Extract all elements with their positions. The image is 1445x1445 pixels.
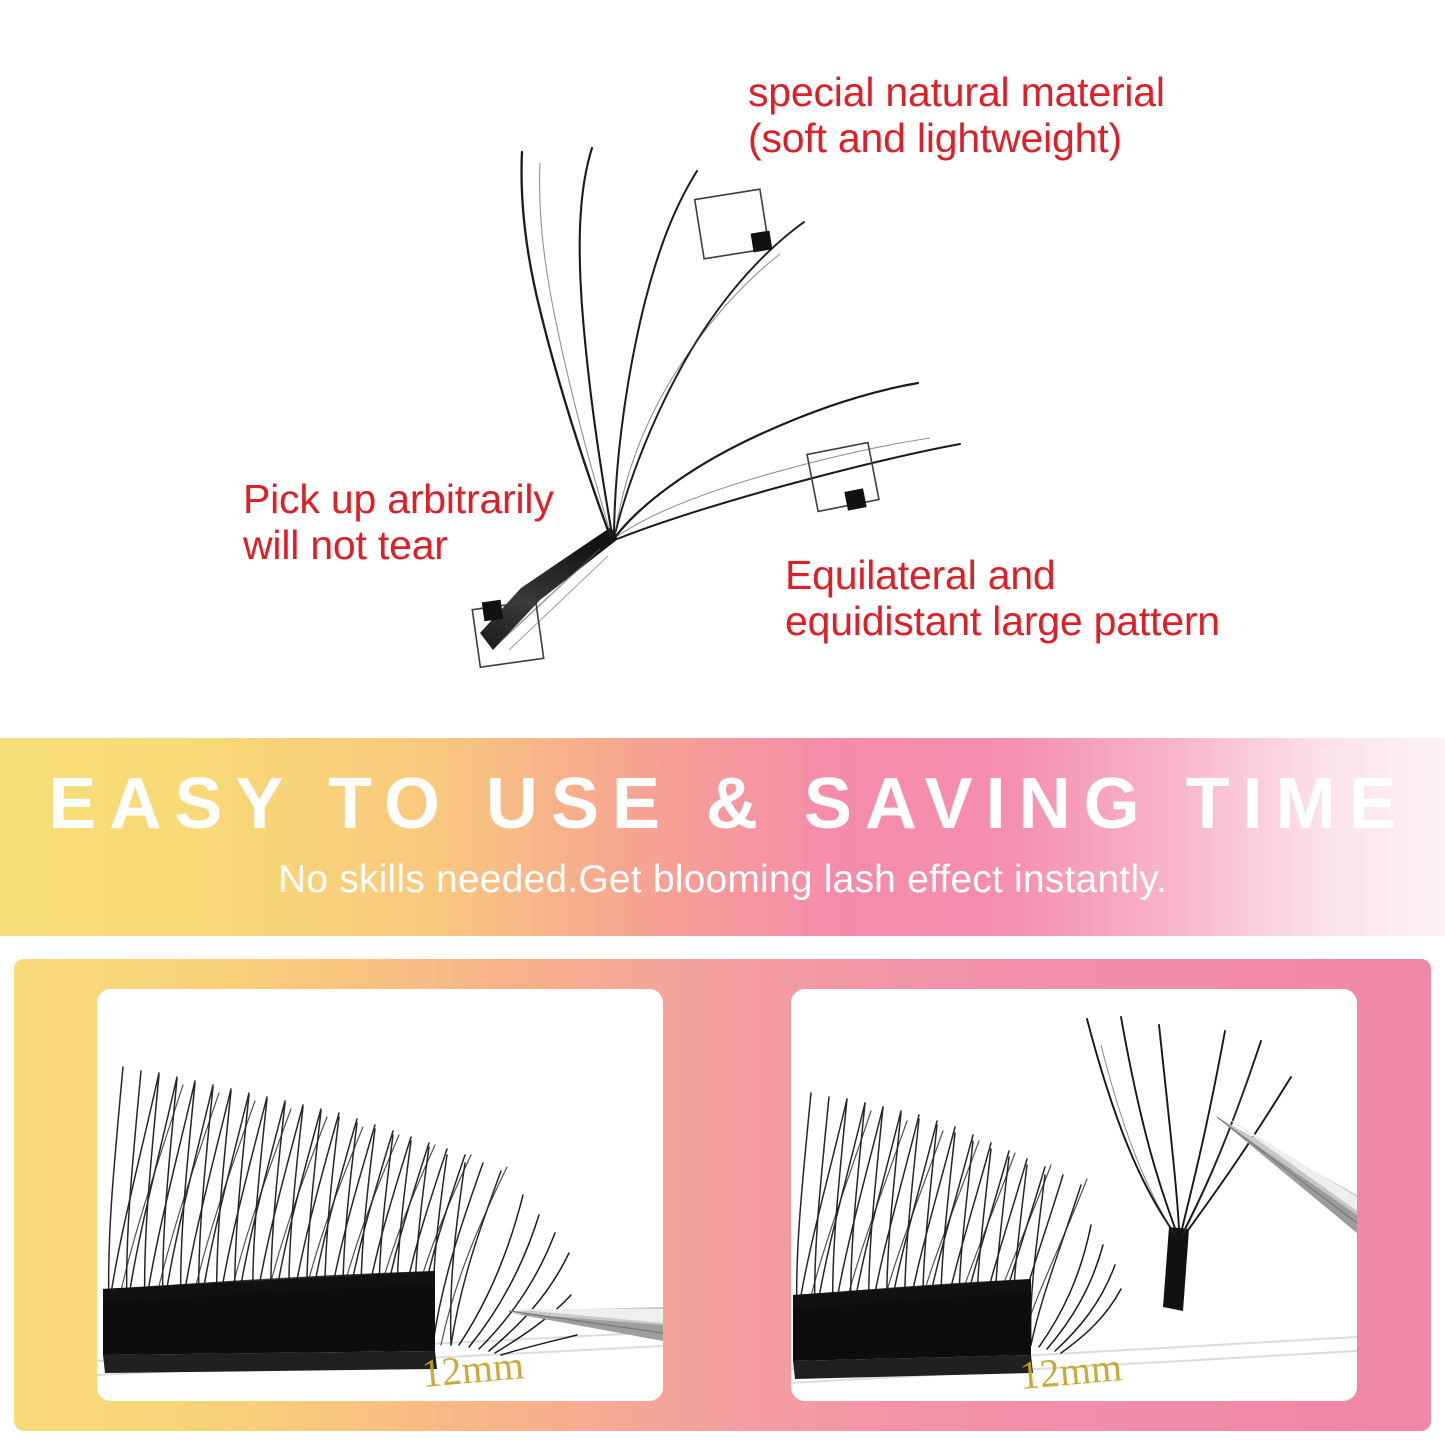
banner-subtitle: No skills needed.Get blooming lash effec… xyxy=(0,860,1445,899)
headline-banner: EASY TO USE & SAVING TIME No skills need… xyxy=(0,738,1445,936)
lash-tray-base xyxy=(793,1279,1033,1379)
size-label-right: 12mm xyxy=(1018,1344,1124,1398)
lash-tray-tweezers-image: 12mm xyxy=(97,989,663,1401)
product-photo-right: 12mm xyxy=(791,989,1357,1401)
blooming-lash-fan-diagram xyxy=(0,0,1445,738)
feature-diagram-section: special natural material (soft and light… xyxy=(0,0,1445,738)
banner-title: EASY TO USE & SAVING TIME xyxy=(0,768,1445,840)
callout-marker-material xyxy=(695,189,773,259)
lash-filaments-secondary xyxy=(540,163,930,537)
lash-filaments xyxy=(522,148,960,539)
size-label-left: 12mm xyxy=(420,1342,526,1396)
bottom-margin xyxy=(0,1431,1445,1445)
callout-text-pattern: Equilateral and equidistant large patter… xyxy=(785,553,1220,645)
callout-text-pickup: Pick up arbitrarily will not tear xyxy=(243,477,554,569)
lash-tray-base xyxy=(103,1271,437,1373)
lash-fan-pickup-image: 12mm xyxy=(791,989,1357,1401)
callout-text-material: special natural material (soft and light… xyxy=(748,70,1165,162)
product-photos-section: 12mm xyxy=(14,959,1431,1431)
product-photo-left: 12mm xyxy=(97,989,663,1401)
section-divider xyxy=(0,936,1445,959)
